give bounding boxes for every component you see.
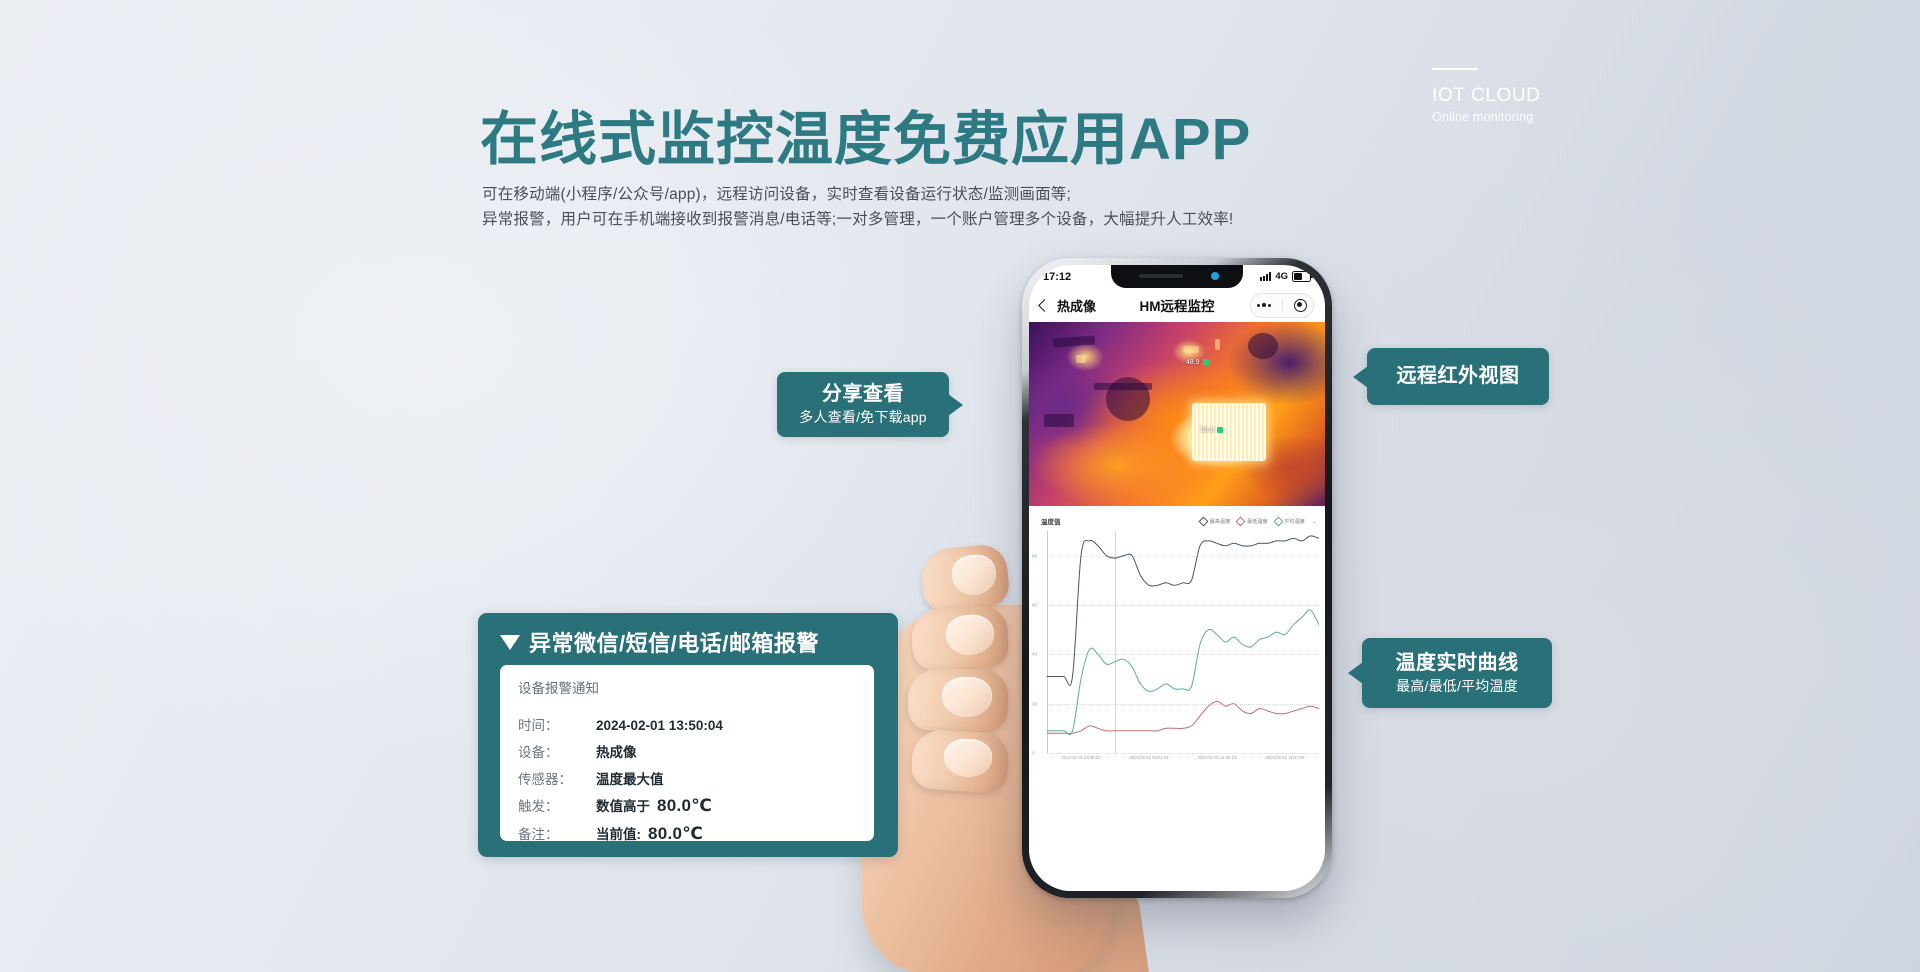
finger — [919, 543, 1011, 614]
legend-label: 平均温度 — [1284, 518, 1305, 525]
alarm-row-text: 热成像 — [596, 745, 637, 760]
alarm-card-title: 异常微信/短信/电话/邮箱报警 — [529, 626, 819, 658]
page-title: 在线式监控温度免费应用APP — [480, 92, 1251, 176]
battery-icon — [1292, 271, 1311, 282]
finger — [907, 668, 1008, 732]
thermal-detail — [1052, 335, 1095, 347]
thermal-hotspot — [1183, 346, 1199, 353]
chart-plot-area: 806040200 — [1039, 531, 1319, 753]
legend-marker-icon — [1273, 516, 1283, 526]
chart-x-axis: 2024-02-01 04:26:022024-02-01 08:02:3320… — [1047, 755, 1319, 767]
alarm-row-label: 设备： — [518, 741, 596, 761]
alarm-row-text: 温度最大值 — [596, 772, 664, 787]
thermal-hotspot — [1215, 339, 1220, 350]
chart-legend[interactable]: 最高温度最低温度平均温度⌄ — [1200, 518, 1317, 525]
alarm-row-value: 数值高于80.0℃ — [596, 795, 712, 816]
chart-line-平均温度 — [1047, 610, 1319, 735]
callout-remote-infrared-view: 远程红外视图 — [1367, 348, 1549, 405]
phone-screen: 17:12 4G 热成像 HM远程监控 — [1029, 265, 1325, 891]
legend-marker-icon — [1236, 516, 1246, 526]
chart-y-tick: 0 — [1032, 751, 1035, 756]
chart-legend-item[interactable]: 最高温度 — [1200, 518, 1230, 525]
thermal-marker-center: 58.8 — [1201, 427, 1224, 434]
chart-legend-item[interactable]: 最低温度 — [1237, 518, 1267, 525]
chart-line-最低温度 — [1047, 701, 1319, 733]
alarm-notification-card: 异常微信/短信/电话/邮箱报警 设备报警通知 时间：2024-02-01 13:… — [478, 613, 898, 857]
chart-y-axis-label: 温度值 — [1041, 516, 1061, 526]
alarm-row-label: 传感器： — [518, 768, 596, 788]
callout-infrared-title: 远程红外视图 — [1397, 365, 1520, 388]
chart-header: 温度值 最高温度最低温度平均温度⌄ — [1029, 514, 1325, 528]
thermal-detail — [1106, 377, 1150, 421]
nav-back-label[interactable]: 热成像 — [1057, 296, 1096, 315]
chart-y-tick: 60 — [1032, 603, 1037, 608]
alarm-row-label: 触发： — [518, 795, 596, 815]
thermal-marker-value: 58.8 — [1201, 427, 1215, 434]
alarm-message-body: 设备报警通知 时间：2024-02-01 13:50:04设备：热成像传感器：温… — [500, 665, 874, 841]
chart-y-tick: 80 — [1032, 553, 1037, 558]
fingernail — [942, 677, 992, 717]
alarm-detail-row: 备注：当前值:80.0℃ — [500, 823, 874, 851]
more-menu-icon[interactable] — [1257, 303, 1272, 307]
chart-gridline — [1047, 753, 1319, 754]
chart-y-tick: 20 — [1032, 701, 1037, 706]
triangle-down-icon — [500, 635, 520, 650]
alarm-detail-row: 传感器：温度最大值 — [500, 768, 874, 795]
earpiece-speaker-icon — [1139, 274, 1183, 278]
alarm-notice-label: 设备报警通知 — [500, 677, 874, 697]
chevron-left-icon[interactable] — [1038, 299, 1051, 312]
chart-y-tick: 40 — [1032, 652, 1037, 657]
status-indicators: 4G — [1260, 271, 1311, 282]
miniprogram-capsule[interactable] — [1250, 293, 1314, 318]
finger — [910, 728, 1010, 795]
callout-tail-icon — [948, 394, 963, 416]
chart-x-tick: 2024-02-01 11:36:12 — [1198, 755, 1237, 760]
alarm-row-value: 温度最大值 — [596, 768, 664, 788]
marketing-hero-page: 在线式监控温度免费应用APP 可在移动端(小程序/公众号/app)，远程访问设备… — [0, 0, 1920, 972]
chart-series-svg — [1047, 531, 1319, 753]
chart-x-tick: 2024-02-01 04:26:02 — [1062, 755, 1101, 760]
app-nav-bar: 热成像 HM远程监控 — [1029, 288, 1325, 322]
alarm-row-value: 2024-02-01 13:50:04 — [596, 718, 723, 733]
chart-line-最高温度 — [1047, 536, 1319, 686]
temperature-chart[interactable]: 温度值 最高温度最低温度平均温度⌄ 806040200 2024-02-01 0… — [1029, 506, 1325, 891]
callout-tail-icon — [1348, 662, 1363, 684]
phone-mockup: 17:12 4G 热成像 HM远程监控 — [1022, 258, 1332, 898]
thermal-image-view[interactable]: 48.9 58.8 — [1029, 322, 1325, 506]
thermal-detail — [1248, 333, 1278, 359]
callout-tail-icon — [1353, 366, 1368, 388]
callout-curve-title: 温度实时曲线 — [1396, 652, 1519, 675]
thermal-marker-value: 48.9 — [1186, 359, 1200, 366]
phone-notch — [1111, 265, 1243, 288]
capsule-divider — [1282, 299, 1283, 312]
alarm-row-emphasis: 80.0℃ — [657, 796, 712, 815]
subtitle-line-1: 可在移动端(小程序/公众号/app)，远程访问设备，实时查看设备运行状态/监测画… — [482, 182, 1071, 204]
fingernail — [943, 738, 993, 778]
callout-share-subtitle: 多人查看/免下载app — [799, 409, 926, 426]
alarm-row-label: 时间： — [518, 714, 596, 734]
thermal-detail — [1044, 414, 1074, 427]
nav-title: HM远程监控 — [1140, 295, 1215, 315]
signal-icon — [1260, 272, 1272, 281]
fingernail — [949, 552, 998, 598]
alarm-detail-row: 设备：热成像 — [500, 741, 874, 768]
brand-title: IOT CLOUD — [1432, 86, 1541, 107]
status-time: 17:12 — [1043, 271, 1071, 283]
front-camera-icon — [1211, 272, 1219, 280]
legend-label: 最低温度 — [1247, 518, 1268, 525]
alarm-detail-row: 触发：数值高于80.0℃ — [500, 795, 874, 823]
alarm-row-emphasis: 80.0℃ — [648, 824, 703, 843]
alarm-row-value: 热成像 — [596, 741, 637, 761]
chart-x-tick: 2024-02-01 15:07:28 — [1266, 755, 1305, 760]
brand-subtitle: Online monitoring — [1432, 110, 1541, 124]
alarm-row-value: 当前值:80.0℃ — [596, 823, 703, 844]
legend-label: 最高温度 — [1210, 518, 1231, 525]
network-label: 4G — [1275, 271, 1288, 282]
subtitle-line-2: 异常报警，用户可在手机端接收到报警消息/电话等;一对多管理，一个账户管理多个设备… — [482, 207, 1233, 229]
thermal-marker-top: 48.9 — [1186, 359, 1209, 366]
alarm-row-prefix: 当前值: — [596, 827, 641, 842]
fingernail — [945, 613, 996, 656]
thermal-hotspot — [1076, 355, 1086, 363]
alarm-row-prefix: 数值高于 — [596, 799, 650, 814]
alarm-detail-rows: 时间：2024-02-01 13:50:04设备：热成像传感器：温度最大值触发：… — [500, 714, 874, 851]
legend-marker-icon — [1199, 516, 1209, 526]
callout-share-title: 分享查看 — [822, 383, 904, 406]
finger — [910, 605, 1009, 672]
brand-badge: IOT CLOUD Online monitoring — [1432, 68, 1541, 124]
alarm-detail-row: 时间：2024-02-01 13:50:04 — [500, 714, 874, 741]
callout-temperature-curve: 温度实时曲线 最高/最低/平均温度 — [1362, 638, 1552, 708]
alarm-row-text: 2024-02-01 13:50:04 — [596, 718, 723, 733]
close-target-icon[interactable] — [1294, 299, 1307, 312]
callout-share-view: 分享查看 多人查看/免下载app — [777, 372, 949, 437]
legend-expand-icon[interactable]: ⌄ — [1312, 518, 1317, 525]
chart-x-tick: 2024-02-01 08:02:33 — [1130, 755, 1169, 760]
chart-legend-item[interactable]: 平均温度 — [1275, 518, 1305, 525]
marker-square-icon — [1217, 427, 1223, 433]
alarm-card-header: 异常微信/短信/电话/邮箱报警 — [478, 613, 898, 668]
brand-rule — [1432, 68, 1478, 70]
callout-curve-subtitle: 最高/最低/平均温度 — [1396, 678, 1518, 695]
marker-square-icon — [1203, 359, 1209, 365]
alarm-row-label: 备注： — [518, 823, 596, 843]
